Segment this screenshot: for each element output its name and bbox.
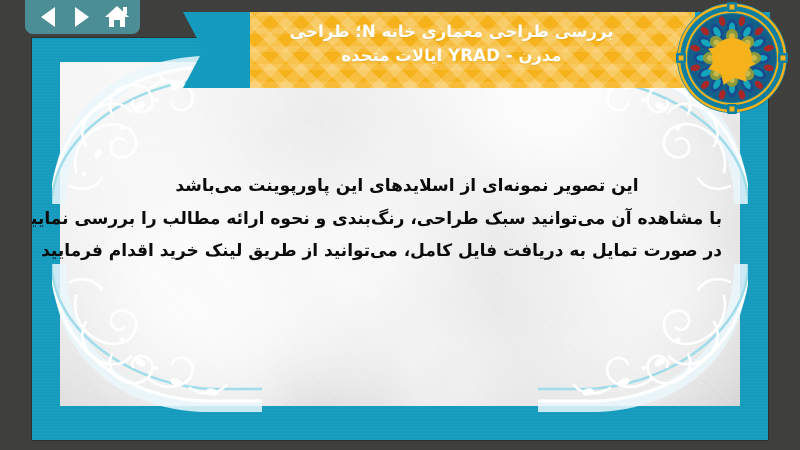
next-slide-button[interactable] xyxy=(69,5,95,29)
slide-title-line-1: بررسی طراحی معماری خانه N؛ طراحی xyxy=(264,20,639,44)
triangle-right-icon xyxy=(75,7,89,27)
triangle-left-icon xyxy=(41,7,55,27)
body-line-2: با مشاهده آن می‌توانید سبک طراحی، رنگ‌بن… xyxy=(92,203,722,236)
slide-title-line-2: مدرن - YRAD ایالات متحده xyxy=(264,44,639,68)
mandala-medallion-icon xyxy=(676,2,788,114)
previous-slide-button[interactable] xyxy=(35,5,61,29)
body-line-1: این تصویر نمونه‌ای از اسلایدهای این پاور… xyxy=(92,170,722,203)
slide-title-banner: بررسی طراحی معماری خانه N؛ طراحی مدرن - … xyxy=(250,12,695,88)
presentation-slide: این تصویر نمونه‌ای از اسلایدهای این پاور… xyxy=(32,38,768,440)
slide-body-text: این تصویر نمونه‌ای از اسلایدهای این پاور… xyxy=(92,170,722,268)
navigation-bar xyxy=(25,0,140,34)
slide-viewer: این تصویر نمونه‌ای از اسلایدهای این پاور… xyxy=(0,0,800,450)
slide-title-text: بررسی طراحی معماری خانه N؛ طراحی مدرن - … xyxy=(250,12,695,68)
home-button[interactable] xyxy=(104,5,130,29)
home-icon xyxy=(105,6,129,28)
body-line-3: در صورت تمایل به دریافت فایل کامل، می‌تو… xyxy=(92,235,722,268)
